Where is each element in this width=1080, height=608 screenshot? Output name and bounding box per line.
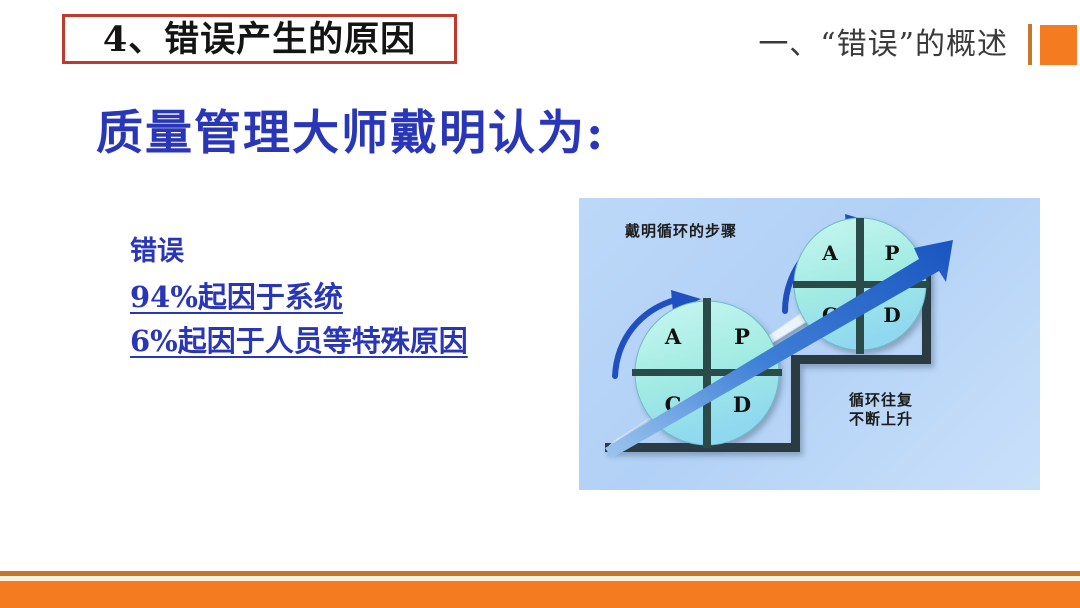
page-title: 质量管理大师戴明认为:: [96, 108, 605, 160]
body-line-special-cause[interactable]: 6%起因于人员等特殊原因: [130, 327, 550, 356]
header-accent-tick-icon: [1028, 24, 1032, 65]
pdca-diagram-svg: A P C D A P C D: [579, 198, 1040, 490]
lower-wheel-letter-A: A: [664, 324, 682, 349]
slide-canvas: 4、错误产生的原因 一、“错误”的概述 质量管理大师戴明认为: 错误 94%起因…: [0, 0, 1080, 608]
body-line-error: 错误: [130, 238, 550, 265]
header-accent-square-icon: [1040, 25, 1077, 65]
body-line-system-cause[interactable]: 94%起因于系统: [130, 283, 550, 312]
lower-wheel-letter-D: D: [733, 392, 751, 417]
chapter-label: 一、“错误”的概述: [758, 30, 1008, 60]
footer-accent-bar: [0, 581, 1080, 608]
section-number-badge: 4、错误产生的原因: [62, 14, 457, 64]
chapter-label-group: 一、“错误”的概述: [758, 22, 1008, 68]
upper-wheel-letter-A: A: [821, 241, 838, 265]
upper-wheel-letter-P: P: [884, 241, 899, 265]
section-badge-label: 4、错误产生的原因: [103, 22, 416, 57]
upper-wheel-letter-D: D: [883, 303, 900, 327]
diagram-note: 循环往复 不断上升: [849, 391, 913, 429]
pdca-diagram: A P C D A P C D: [579, 198, 1040, 490]
section-badge-inner: 4、错误产生的原因: [65, 17, 454, 61]
diagram-title: 戴明循环的步骤: [625, 222, 737, 241]
lower-wheel-letter-P: P: [734, 324, 750, 349]
diagram-note-line1: 循环往复: [849, 391, 913, 410]
diagram-note-line2: 不断上升: [849, 410, 913, 429]
body-text-block: 错误 94%起因于系统 6%起因于人员等特殊原因: [130, 238, 550, 371]
